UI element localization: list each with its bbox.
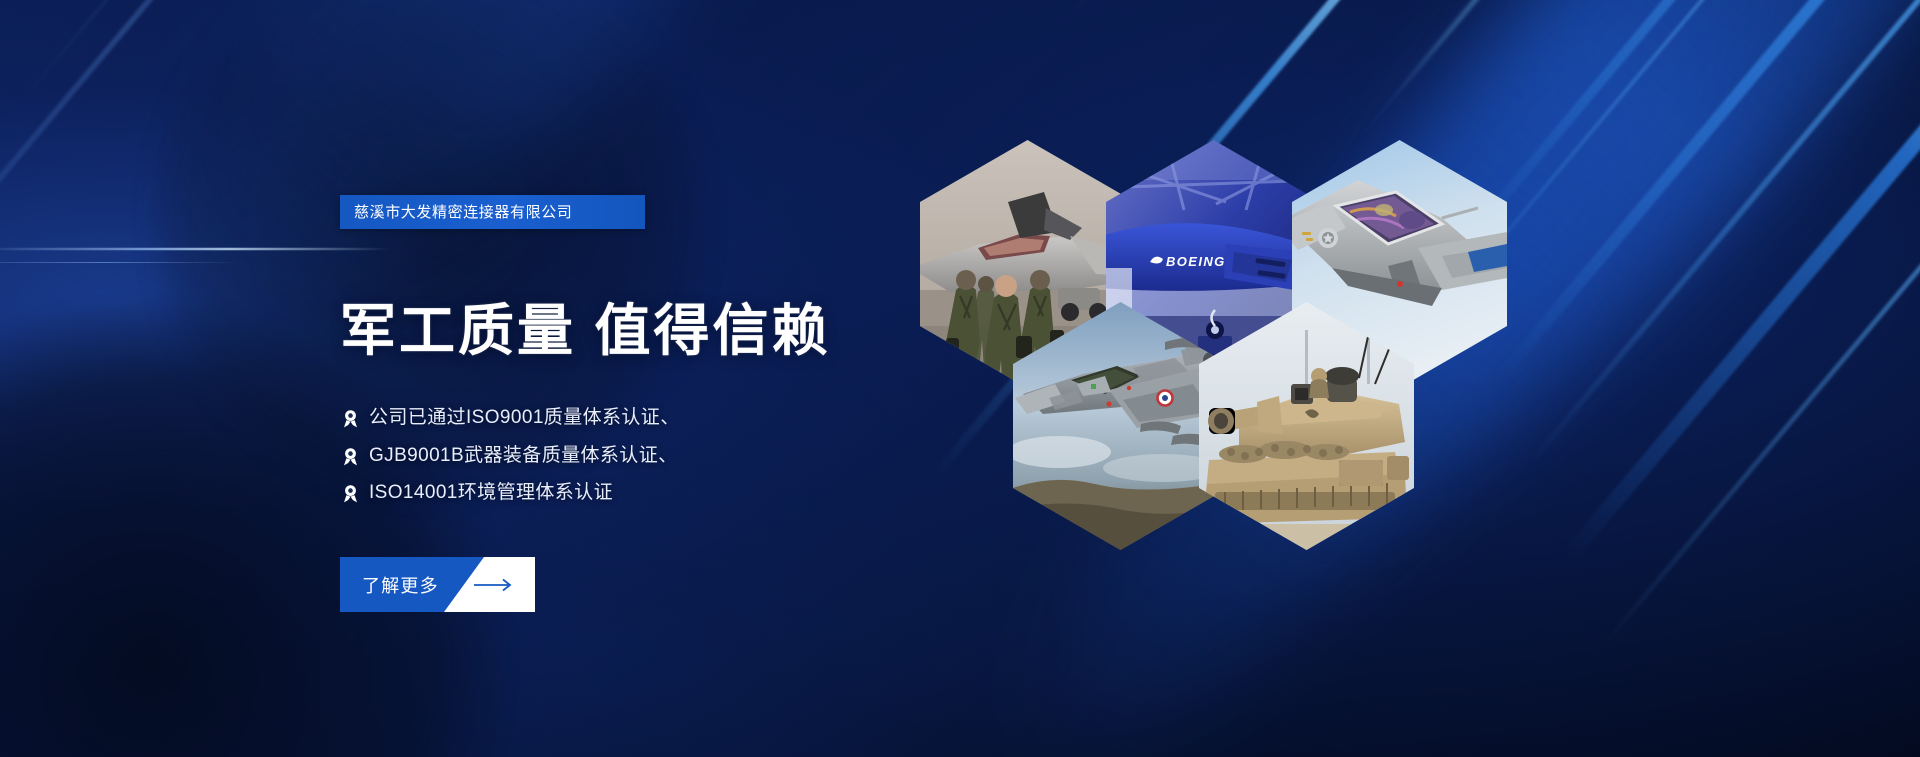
list-item: 公司已通过ISO9001质量体系认证、 <box>342 406 680 431</box>
medal-icon <box>342 447 359 466</box>
medal-icon <box>342 484 359 503</box>
learn-more-button[interactable]: 了解更多 <box>340 557 535 612</box>
company-name-label: 慈溪市大发精密连接器有限公司 <box>354 205 572 220</box>
svg-text:BOEING: BOEING <box>1166 254 1226 269</box>
hero-banner: 慈溪市大发精密连接器有限公司 军工质量 值得信赖 公司已通过ISO9001质量体… <box>0 0 1920 757</box>
left-accent-streak <box>0 248 390 250</box>
hero-headline: 军工质量 值得信赖 <box>340 300 831 363</box>
list-item-label: GJB9001B武器装备质量体系认证、 <box>369 444 678 469</box>
learn-more-button-shape <box>340 557 535 612</box>
company-name-badge: 慈溪市大发精密连接器有限公司 <box>340 195 645 229</box>
left-accent-streak-secondary <box>0 262 240 263</box>
hero-content: 慈溪市大发精密连接器有限公司 军工质量 值得信赖 公司已通过ISO9001质量体… <box>340 0 1100 757</box>
list-item-label: ISO14001环境管理体系认证 <box>369 481 613 506</box>
list-item: GJB9001B武器装备质量体系认证、 <box>342 444 680 469</box>
certification-list: 公司已通过ISO9001质量体系认证、 GJB9001B武器装备质量体系认证、 <box>342 406 680 506</box>
list-item: ISO14001环境管理体系认证 <box>342 481 680 506</box>
medal-icon <box>342 409 359 428</box>
list-item-label: 公司已通过ISO9001质量体系认证、 <box>369 406 680 431</box>
